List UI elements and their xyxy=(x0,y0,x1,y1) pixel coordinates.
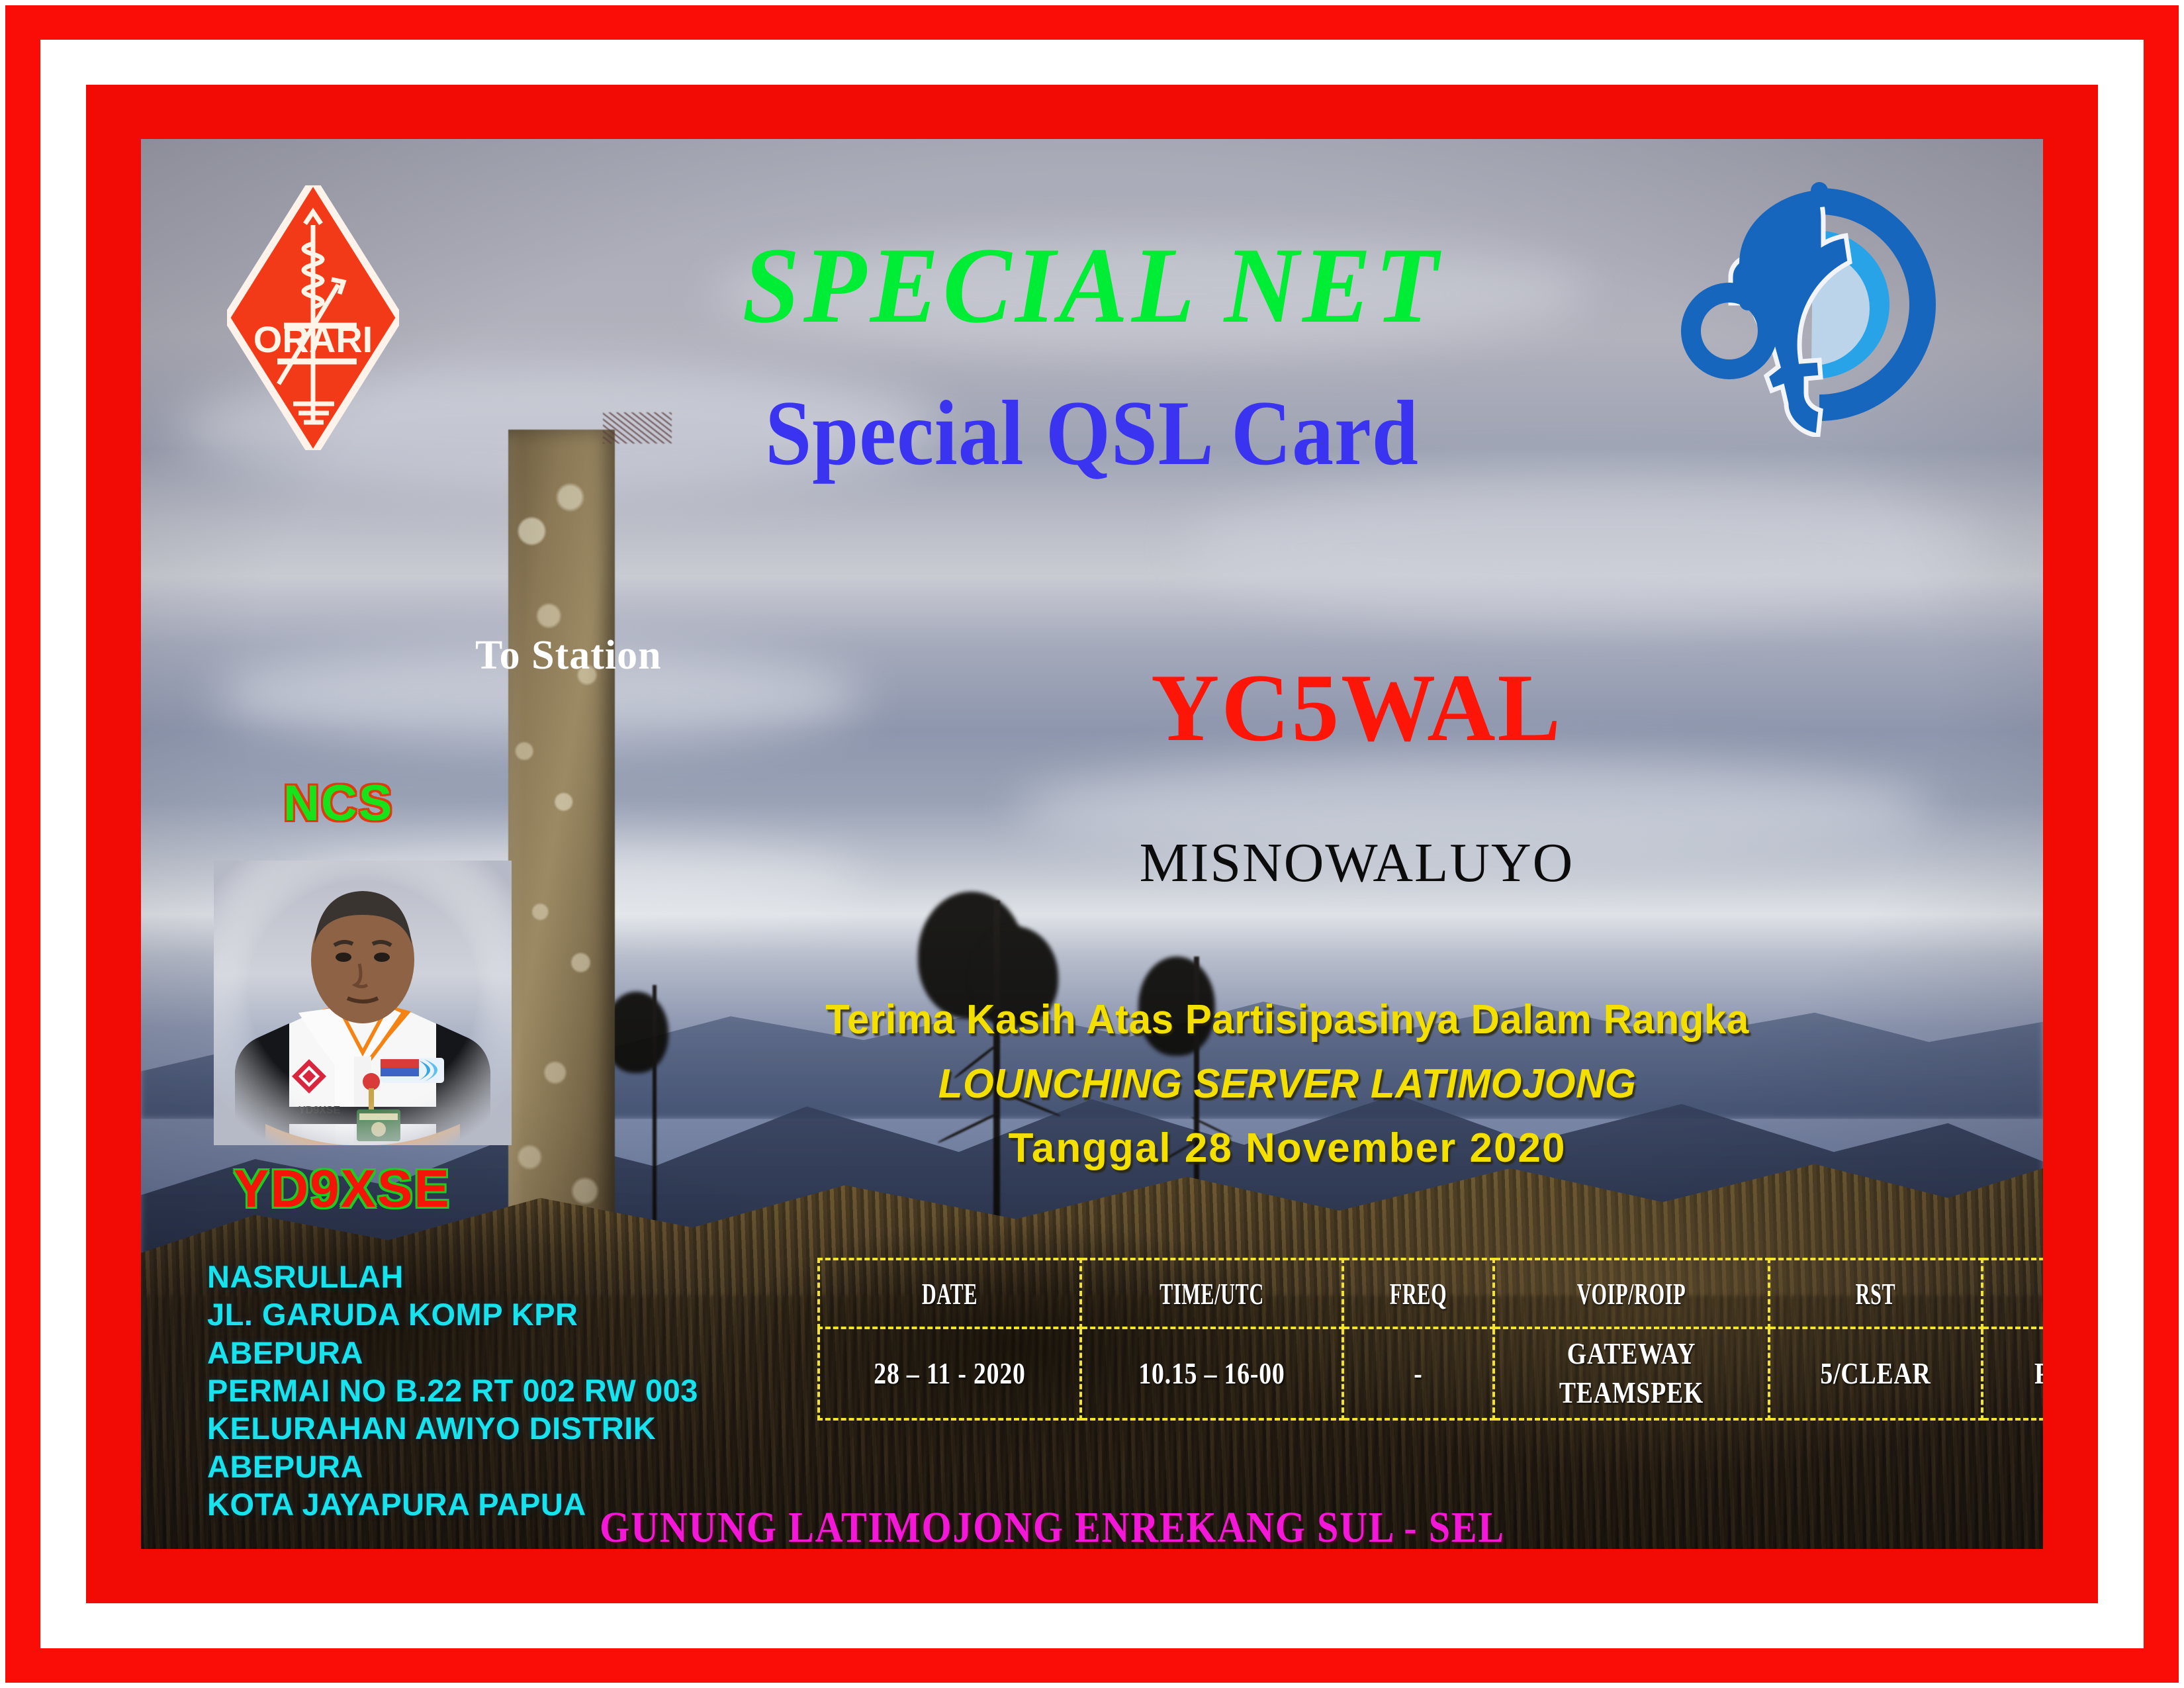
page-title: SPECIAL NET xyxy=(189,224,1995,348)
address-line: PERMAI NO B.22 RT 002 RW 003 xyxy=(207,1372,698,1409)
page-subtitle: Special QSL Card xyxy=(236,380,1948,487)
table-row: 28 – 11 - 2020 10.15 – 16-00 - GATEWAY T… xyxy=(819,1328,2043,1419)
cell-voip: GATEWAY TEAMSPEK xyxy=(1494,1328,1769,1419)
header-voip: VOIP/ROIP xyxy=(1522,1259,1742,1328)
qsl-card: ORARI SPECIAL NET Special QSL Card To St… xyxy=(0,0,2184,1688)
background-photo: ORARI SPECIAL NET Special QSL Card To St… xyxy=(141,139,2043,1549)
qso-log-table: DATE TIME/UTC FREQ VOIP/ROIP RST MODE 28… xyxy=(817,1258,2043,1421)
ncs-callsign: YD9XSE xyxy=(234,1158,451,1219)
address-line: KELURAHAN AWIYO DISTRIK xyxy=(207,1409,698,1447)
operator-name: MISNOWALUYO xyxy=(406,831,2043,895)
table-header-row: DATE TIME/UTC FREQ VOIP/ROIP RST MODE xyxy=(819,1259,2043,1328)
operator-portrait: YD9XSE xyxy=(214,861,512,1145)
cell-rst: 5/CLEAR xyxy=(1769,1328,1982,1419)
header-time: TIME/UTC xyxy=(1107,1259,1317,1328)
thanks-line-3: Tanggal 28 November 2020 xyxy=(604,1125,1970,1172)
white-border-gap: ORARI SPECIAL NET Special QSL Card To St… xyxy=(40,40,2144,1648)
address-line: ABEPURA xyxy=(207,1334,698,1372)
ncs-label: NCS xyxy=(283,774,393,832)
postal-address: NASRULLAH JL. GARUDA KOMP KPR ABEPURA PE… xyxy=(207,1258,698,1523)
thanks-block: Terima Kasih Atas Partisipasinya Dalam R… xyxy=(604,996,1970,1172)
cell-date: 28 – 11 - 2020 xyxy=(819,1328,1081,1419)
address-line: JL. GARUDA KOMP KPR xyxy=(207,1295,698,1333)
header-freq: FREQ xyxy=(1358,1259,1479,1328)
inner-red-border: ORARI SPECIAL NET Special QSL Card To St… xyxy=(86,85,2098,1603)
location-line: GUNUNG LATIMOJONG ENREKANG SUL - SEL xyxy=(215,1503,1889,1549)
header-rst: RST xyxy=(1790,1259,1961,1328)
cell-mode: PONE/CW xyxy=(1982,1328,2043,1419)
address-line: ABEPURA xyxy=(207,1448,698,1485)
address-line: NASRULLAH xyxy=(207,1258,698,1295)
header-date: DATE xyxy=(845,1259,1055,1328)
outer-red-border: ORARI SPECIAL NET Special QSL Card To St… xyxy=(5,5,2179,1683)
cell-time: 10.15 – 16-00 xyxy=(1081,1328,1343,1419)
cell-freq: - xyxy=(1343,1328,1494,1419)
thanks-line-2: LOUNCHING SERVER LATIMOJONG xyxy=(625,1060,1950,1107)
header-mode: MODE xyxy=(2005,1259,2043,1328)
thanks-line-1: Terima Kasih Atas Partisipasinya Dalam R… xyxy=(625,996,1950,1043)
station-callsign: YC5WAL xyxy=(425,652,2043,763)
